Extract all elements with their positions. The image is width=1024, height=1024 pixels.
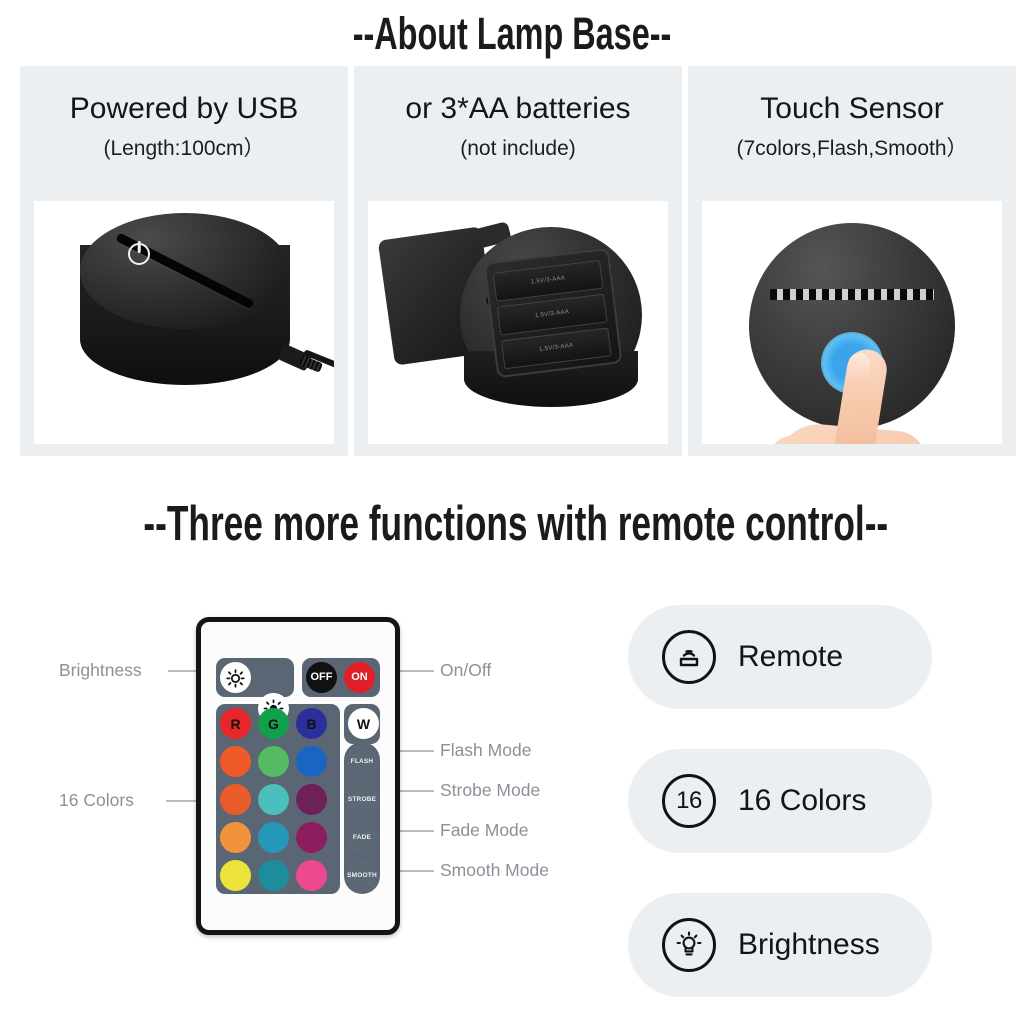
infographic-page: --About Lamp Base-- Powered by USB (Leng… [0, 0, 1024, 1024]
color-button-r2c3[interactable] [296, 746, 327, 777]
label-16-colors: 16 Colors [59, 790, 134, 810]
card-touch-sensor: Touch Sensor (7colors,Flash,Smooth） [688, 66, 1016, 456]
color-button-r2c1[interactable] [220, 746, 251, 777]
power-icon [128, 243, 150, 265]
pill-16-colors[interactable]: 16 16 Colors [628, 749, 932, 853]
page-title-lamp-base: --About Lamp Base-- [143, 9, 880, 59]
remote-control-diagram: Brightness 16 Colors On/Off Flash Mode S… [0, 560, 620, 980]
remote-signal-icon [662, 630, 716, 684]
card-subtitle: (not include) [354, 137, 682, 161]
color-button-red[interactable]: R [220, 708, 251, 739]
color-button-r5c1[interactable] [220, 860, 251, 891]
pill-label: Brightness [738, 928, 880, 962]
leader-line-onoff [394, 670, 434, 672]
color-button-green[interactable]: G [258, 708, 289, 739]
card-title: Touch Sensor [688, 92, 1016, 126]
lightbulb-icon [662, 918, 716, 972]
card-aa-batteries: or 3*AA batteries (not include) 1.5V/3-A… [354, 66, 682, 456]
color-button-r3c1[interactable] [220, 784, 251, 815]
label-smooth-mode: Smooth Mode [440, 860, 549, 880]
remote-control-body: OFF ON R G B W FLASH STROBE FADE SM [196, 617, 400, 935]
on-button[interactable]: ON [344, 662, 375, 693]
color-button-r5c2[interactable] [258, 860, 289, 891]
card-title: Powered by USB [20, 92, 348, 126]
strobe-mode-button[interactable]: STROBE [346, 784, 378, 816]
color-button-r5c3[interactable] [296, 860, 327, 891]
feature-card-row: Powered by USB (Length:100cm） or 3*AA ba… [20, 66, 1016, 456]
card-subtitle: (7colors,Flash,Smooth） [688, 137, 1016, 161]
label-brightness: Brightness [59, 660, 142, 680]
flash-mode-button[interactable]: FLASH [346, 746, 378, 778]
battery-slot: 1.5V/3-AAA [501, 327, 612, 369]
color-button-r4c1[interactable] [220, 822, 251, 853]
card-title: or 3*AA batteries [354, 92, 682, 126]
card-subtitle: (Length:100cm） [20, 137, 348, 161]
battery-well: 1.5V/3-AAA 1.5V/3-AAA 1.5V/3-AAA [483, 248, 622, 378]
label-strobe-mode: Strobe Mode [440, 780, 540, 800]
color-button-r3c2[interactable] [258, 784, 289, 815]
pill-label: 16 Colors [738, 784, 866, 818]
label-fade-mode: Fade Mode [440, 820, 529, 840]
usb-lamp-base-photo [34, 201, 334, 444]
brightness-up-icon [225, 667, 246, 688]
color-button-r4c2[interactable] [258, 822, 289, 853]
brightness-up-button[interactable] [220, 662, 251, 693]
fade-mode-button[interactable]: FADE [346, 822, 378, 854]
color-button-r4c3[interactable] [296, 822, 327, 853]
sixteen-badge-icon: 16 [662, 774, 716, 828]
color-button-r2c2[interactable] [258, 746, 289, 777]
off-button[interactable]: OFF [306, 662, 337, 693]
led-strip [770, 289, 934, 300]
touch-sensor-photo [702, 201, 1002, 444]
smooth-mode-button[interactable]: SMOOTH [346, 860, 378, 892]
lamp-base-top-surface [80, 213, 290, 329]
pill-brightness[interactable]: Brightness [628, 893, 932, 997]
color-button-r3c3[interactable] [296, 784, 327, 815]
page-title-remote-functions: --Three more functions with remote contr… [143, 495, 880, 553]
pill-label: Remote [738, 640, 843, 674]
battery-compartment-photo: 1.5V/3-AAA 1.5V/3-AAA 1.5V/3-AAA [368, 201, 668, 444]
pill-remote[interactable]: Remote [628, 605, 932, 709]
label-flash-mode: Flash Mode [440, 740, 531, 760]
sixteen-badge-text: 16 [676, 787, 702, 815]
color-button-white[interactable]: W [348, 708, 379, 739]
color-button-blue[interactable]: B [296, 708, 327, 739]
label-on-off: On/Off [440, 660, 491, 680]
card-powered-by-usb: Powered by USB (Length:100cm） [20, 66, 348, 456]
feature-pill-list: Remote 16 16 Colors [628, 605, 932, 1024]
